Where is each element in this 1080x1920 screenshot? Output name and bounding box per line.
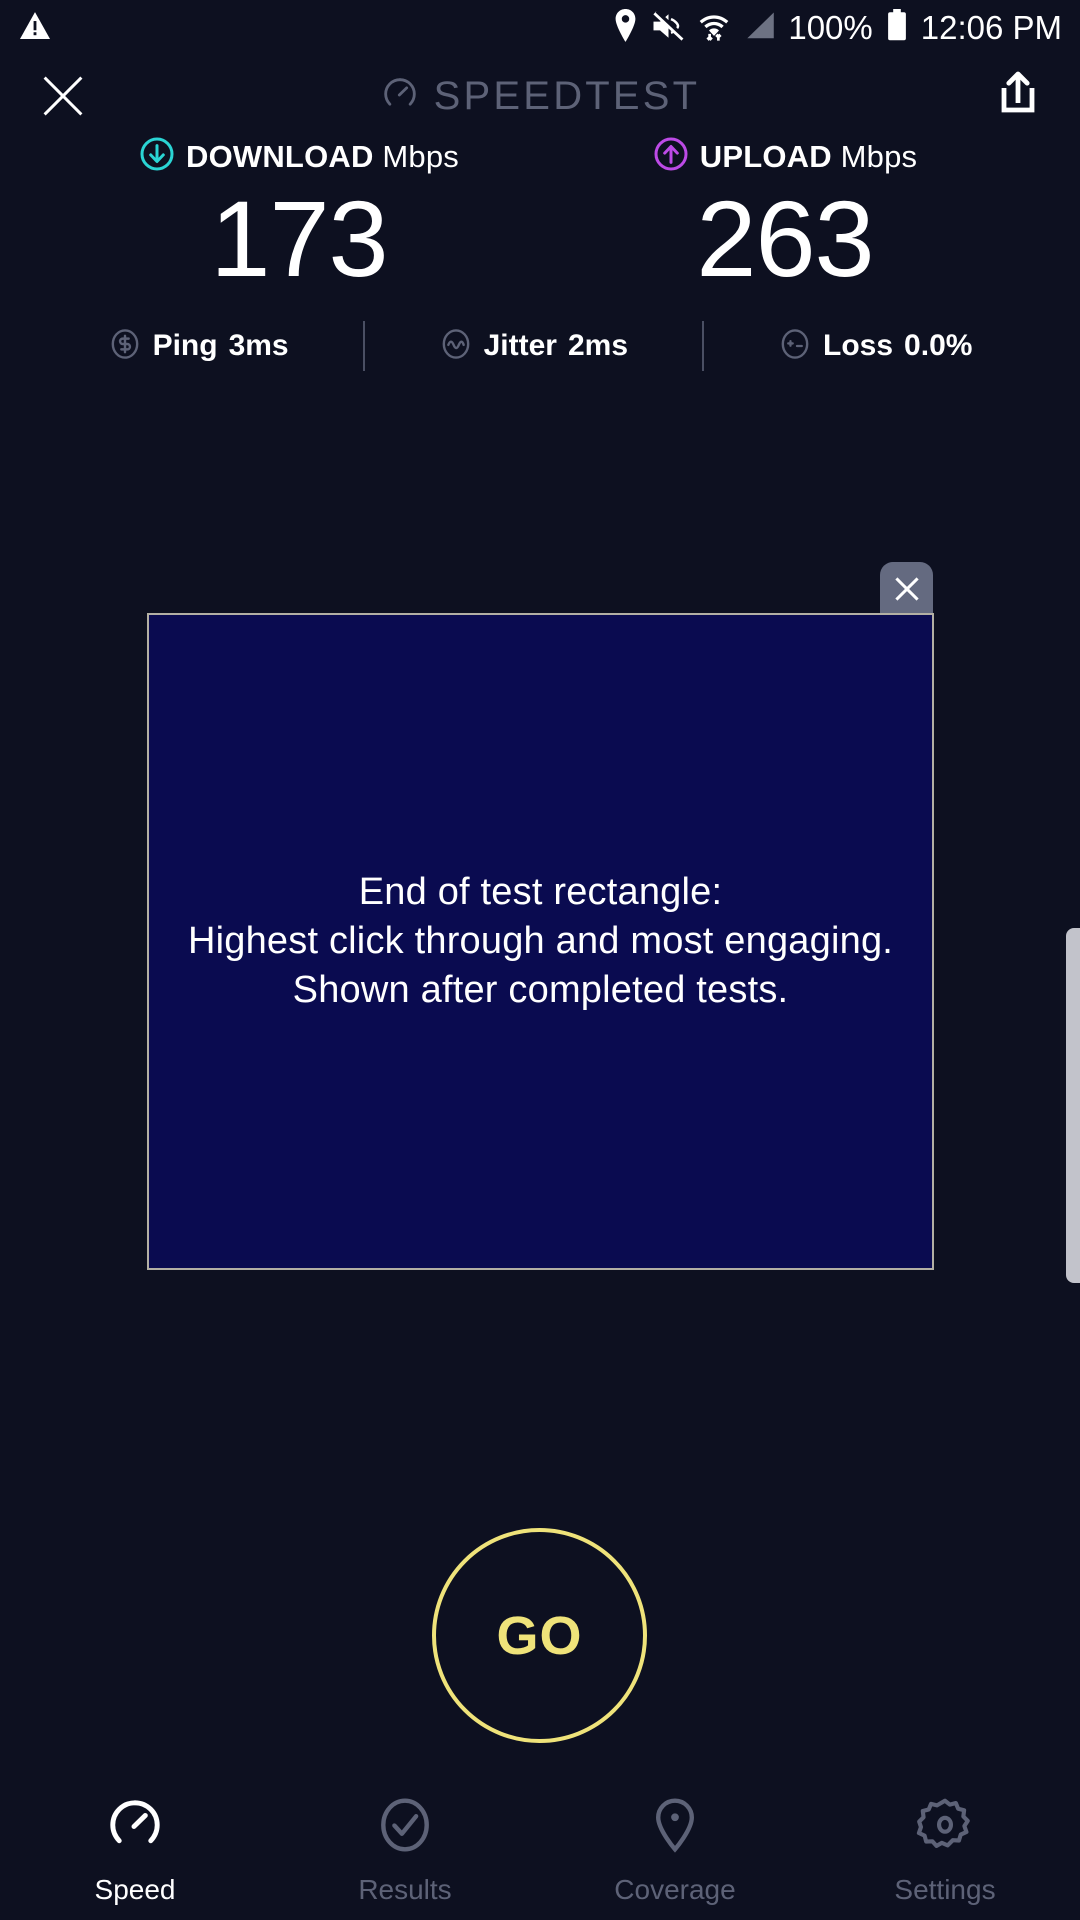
speedometer-icon [380, 74, 420, 119]
stat-divider-2 [702, 321, 704, 371]
upload-arrow-icon [653, 136, 689, 177]
status-bar: 100% 12:06 PM [0, 0, 1080, 56]
jitter-icon [439, 327, 473, 366]
speedometer-icon [104, 1794, 166, 1861]
results-panel: DOWNLOAD Mbps 173 UPLOAD Mbps [0, 136, 1080, 375]
jitter-stat: Jitter 2ms [421, 327, 646, 366]
clock-label: 12:06 PM [921, 9, 1062, 47]
upload-header: UPLOAD Mbps [575, 136, 995, 177]
go-button-label: GO [496, 1605, 582, 1667]
gear-icon [914, 1794, 976, 1861]
location-pin-icon [612, 9, 639, 47]
nav-label-speed: Speed [95, 1874, 176, 1906]
download-value: 173 [89, 185, 509, 293]
advertisement-banner[interactable]: End of test rectangle: Highest click thr… [147, 613, 934, 1270]
cell-signal-icon [743, 11, 775, 46]
download-header: DOWNLOAD Mbps [89, 136, 509, 177]
ad-text-line-1: End of test rectangle: [188, 868, 893, 917]
loss-icon [778, 327, 812, 366]
ad-text: End of test rectangle: Highest click thr… [188, 868, 893, 1015]
nav-label-coverage: Coverage [614, 1874, 735, 1906]
page-scrollbar[interactable] [1066, 928, 1080, 1283]
check-circle-icon [374, 1794, 436, 1861]
go-button[interactable]: GO [432, 1528, 647, 1743]
nav-label-results: Results [358, 1874, 451, 1906]
jitter-label: Jitter [484, 329, 557, 363]
nav-label-settings: Settings [894, 1874, 995, 1906]
speed-results-row: DOWNLOAD Mbps 173 UPLOAD Mbps [0, 136, 1080, 293]
status-bar-left [18, 9, 52, 48]
ping-stat: Ping 3ms [90, 327, 307, 366]
location-pin-icon [644, 1794, 706, 1861]
nav-item-settings[interactable]: Settings [810, 1794, 1080, 1906]
battery-full-icon [886, 9, 908, 47]
upload-metric: UPLOAD Mbps 263 [575, 136, 995, 293]
warning-triangle-icon [18, 9, 52, 48]
connection-stats-row: Ping 3ms Jitter 2ms [0, 317, 1080, 375]
jitter-value: 2ms [568, 329, 628, 363]
loss-value: 0.0% [904, 329, 972, 363]
upload-value: 263 [575, 185, 995, 293]
stat-divider-1 [363, 321, 365, 371]
loss-label: Loss [823, 329, 893, 363]
ping-icon [108, 327, 142, 366]
ping-label: Ping [153, 329, 218, 363]
nav-item-speed[interactable]: Speed [0, 1794, 270, 1906]
brand-logo: SPEEDTEST [0, 56, 1080, 136]
wifi-icon [698, 9, 730, 48]
bottom-navigation: Speed Results Coverage [0, 1780, 1080, 1920]
brand-title: SPEEDTEST [434, 74, 701, 119]
speedtest-app-screen: 100% 12:06 PM SPEEDTEST [0, 0, 1080, 1920]
mute-icon [652, 11, 685, 46]
download-metric: DOWNLOAD Mbps 173 [89, 136, 509, 293]
ad-text-line-2: Highest click through and most engaging. [188, 917, 893, 966]
download-arrow-icon [139, 136, 175, 177]
upload-label: UPLOAD Mbps [700, 139, 918, 175]
ad-text-line-3: Shown after completed tests. [188, 966, 893, 1015]
battery-percent-label: 100% [788, 9, 872, 47]
loss-stat: Loss 0.0% [760, 327, 990, 366]
app-header: SPEEDTEST [0, 56, 1080, 136]
status-bar-right: 100% 12:06 PM [612, 9, 1062, 48]
share-button[interactable] [996, 70, 1040, 123]
nav-item-results[interactable]: Results [270, 1794, 540, 1906]
close-button[interactable] [40, 73, 86, 119]
ad-close-button[interactable] [880, 562, 933, 614]
download-label: DOWNLOAD Mbps [186, 139, 459, 175]
nav-item-coverage[interactable]: Coverage [540, 1794, 810, 1906]
ping-value: 3ms [229, 329, 289, 363]
